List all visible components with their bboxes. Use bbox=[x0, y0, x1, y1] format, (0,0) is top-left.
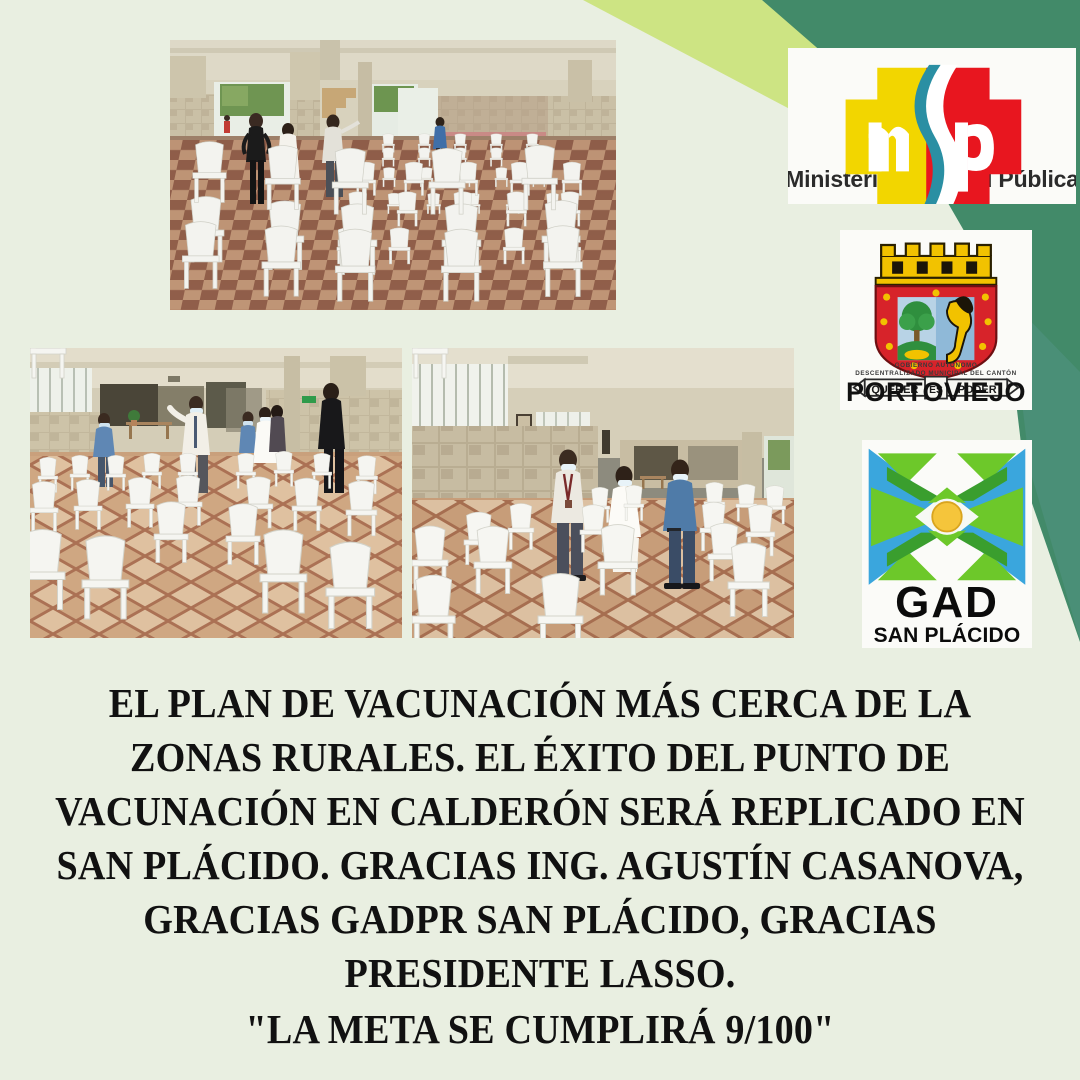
photo-hall-left-scene bbox=[30, 348, 402, 638]
caption-line-6: PRESIDENTE LASSO. bbox=[38, 946, 1042, 1000]
portoviejo-name: PORTOVIEJO bbox=[846, 379, 1026, 406]
caption-line-2: ZONAS RURALES. EL ÉXITO DEL PUNTO DE bbox=[38, 730, 1042, 784]
photo-hall-right-scene bbox=[412, 348, 794, 638]
san-placido-emblem bbox=[862, 442, 1032, 582]
portoviejo-subtitle-line1: GOBIERNO AUTÓNOMO bbox=[895, 362, 978, 370]
photo-hall-wide-scene bbox=[170, 40, 616, 310]
photo-hall-wide bbox=[170, 40, 616, 310]
portoviejo-coat-of-arms: QUERER ES PODER bbox=[840, 234, 1032, 362]
caption-line-1: EL PLAN DE VACUNACIÓN MÁS CERCA DE LA bbox=[38, 676, 1042, 730]
caption-line-4: SAN PLÁCIDO. GRACIAS ING. AGUSTÍN CASANO… bbox=[38, 838, 1042, 892]
ministerio-de-salud-publica-logo: Ministerio de Salud Pública bbox=[788, 48, 1076, 204]
gad-portoviejo-logo: QUERER ES PODER GOBIERNO AUTÓNOMO DESCEN… bbox=[840, 230, 1032, 410]
caption-quote: "LA META SE CUMPLIRÁ 9/100" bbox=[38, 1002, 1042, 1056]
gad-san-placido-logo: GAD SAN PLÁCIDO bbox=[862, 440, 1032, 648]
poster-canvas: Ministerio de Salud Pública bbox=[0, 0, 1080, 1080]
msp-cross-mark bbox=[788, 62, 1076, 166]
caption-block: EL PLAN DE VACUNACIÓN MÁS CERCA DE LA ZO… bbox=[0, 676, 1080, 1056]
gad-name: GAD bbox=[895, 582, 999, 624]
caption-line-3: VACUNACIÓN EN CALDERÓN SERÁ REPLICADO EN bbox=[38, 784, 1042, 838]
photo-hall-left bbox=[30, 348, 402, 638]
caption-line-5: GRACIAS GADPR SAN PLÁCIDO, GRACIAS bbox=[38, 892, 1042, 946]
photo-hall-right bbox=[412, 348, 794, 638]
gad-subtitle: SAN PLÁCIDO bbox=[874, 625, 1021, 646]
